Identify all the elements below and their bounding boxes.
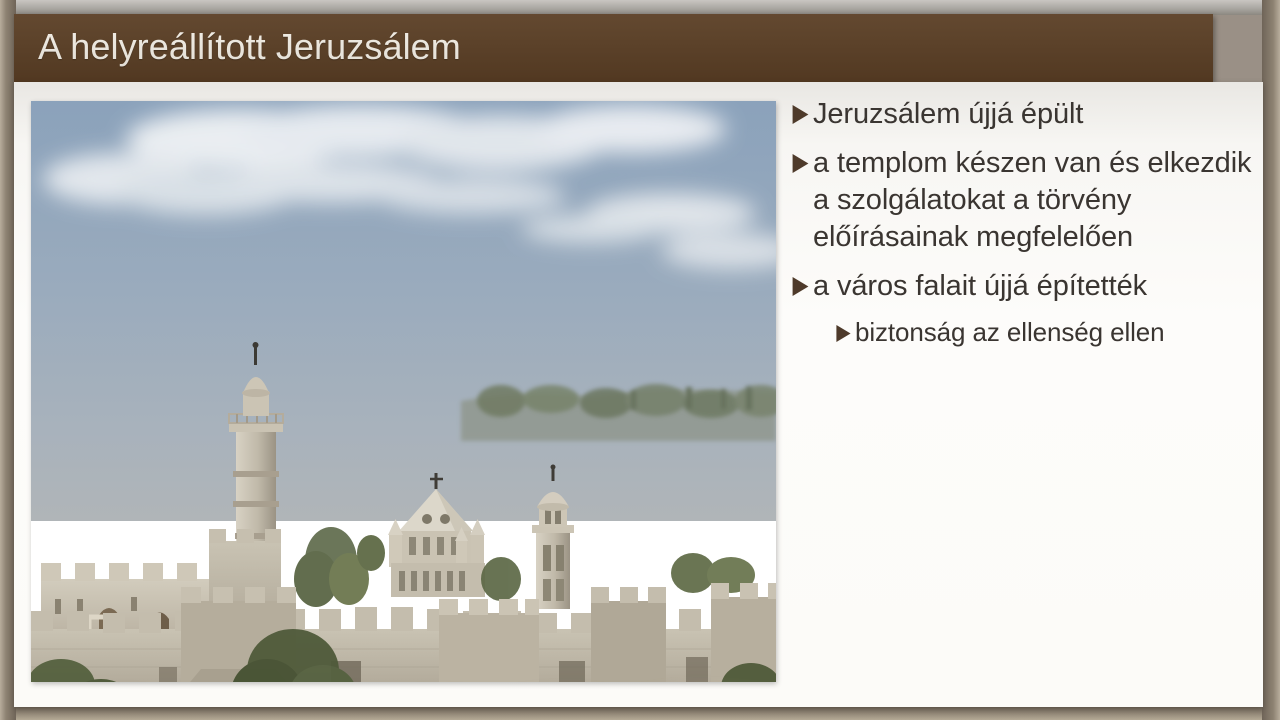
photo-frame — [31, 101, 776, 682]
slide-title-bar: A helyreállított Jeruzsálem — [14, 14, 1213, 82]
triangle-right-icon — [792, 277, 809, 296]
list-item: a templom készen van és elkezdik a szolg… — [792, 145, 1260, 256]
slide-body: Jeruzsálem újjá épült a templom készen v… — [14, 82, 1263, 707]
page-title: A helyreállított Jeruzsálem — [38, 26, 461, 68]
list-item-label: a templom készen van és elkezdik a szolg… — [813, 145, 1260, 256]
bullet-list: Jeruzsálem újjá épült a templom készen v… — [792, 96, 1260, 361]
list-item-label: a város falait újjá építették — [813, 268, 1147, 305]
list-item: a város falait újjá építették — [792, 268, 1260, 305]
list-item-label: biztonság az ellenség ellen — [855, 316, 1165, 349]
triangle-right-icon — [792, 154, 809, 173]
list-item-label: Jeruzsálem újjá épült — [813, 96, 1083, 133]
triangle-right-icon — [836, 325, 851, 342]
list-item: Jeruzsálem újjá épült — [792, 96, 1260, 133]
list-item: biztonság az ellenség ellen — [792, 316, 1260, 349]
triangle-right-icon — [792, 105, 809, 124]
jerusalem-old-city-walls-photo — [31, 101, 776, 682]
slide-root: A helyreállított Jeruzsálem — [0, 0, 1280, 720]
